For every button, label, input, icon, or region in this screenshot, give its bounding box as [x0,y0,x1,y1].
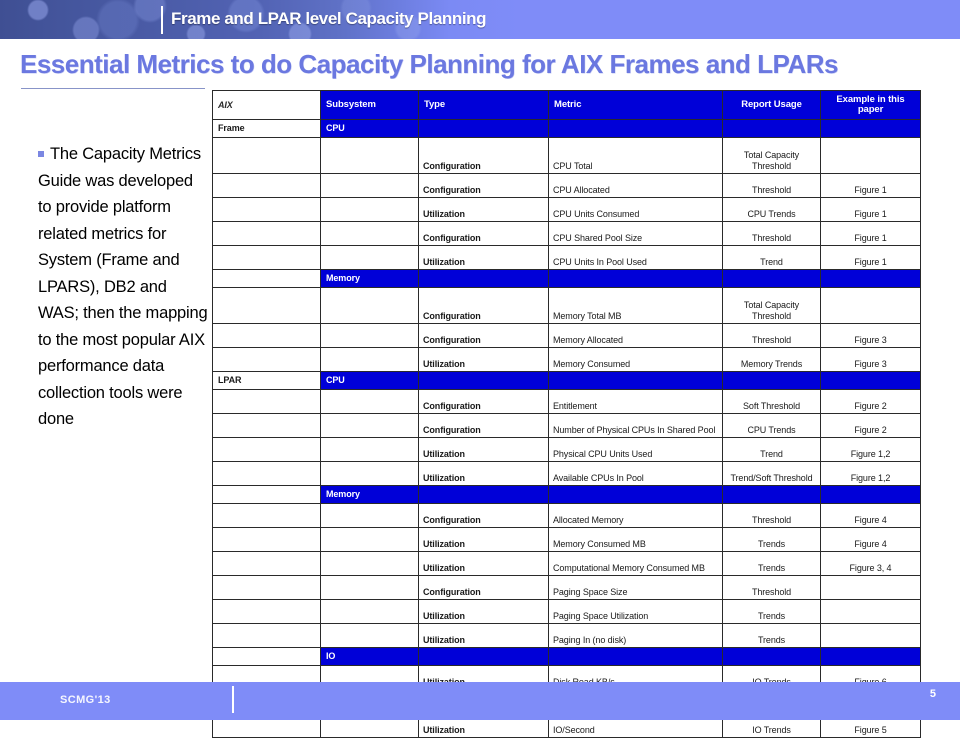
row-metric-cell: CPU Total [549,138,723,174]
row-platform-cell [213,390,321,414]
row-subsystem-cell [321,288,419,324]
metrics-table: AIXSubsystemTypeMetricReport UsageExampl… [212,90,921,738]
row-report-cell: Trend [723,246,821,270]
row-subsystem-cell [321,390,419,414]
row-subsystem-cell [321,348,419,372]
row-type-cell: Utilization [419,600,549,624]
title-underline-rule [21,88,205,89]
row-example-cell: Figure 1 [821,246,921,270]
row-example-cell [821,600,921,624]
row-report-cell: Trends [723,624,821,648]
section-filler-cell [419,270,549,288]
section-platform-cell [213,648,321,666]
row-metric-cell: CPU Shared Pool Size [549,222,723,246]
bullet-text: The Capacity Metrics Guide was developed… [38,145,207,428]
row-example-cell: Figure 3 [821,348,921,372]
banner-divider [161,6,163,34]
row-example-cell [821,576,921,600]
section-filler-cell [821,486,921,504]
row-example-cell: Figure 2 [821,390,921,414]
table-section-header-row: LPARCPU [213,372,921,390]
column-header-metric: Metric [549,91,723,120]
row-subsystem-cell [321,600,419,624]
row-subsystem-cell [321,246,419,270]
row-report-cell: Trends [723,600,821,624]
table-row: ConfigurationMemory Total MBTotal Capaci… [213,288,921,324]
section-filler-cell [419,648,549,666]
table-row: ConfigurationAllocated MemoryThresholdFi… [213,504,921,528]
row-example-cell: Figure 3 [821,324,921,348]
slide-top-banner: Frame and LPAR level Capacity Planning [0,0,960,39]
table-row: UtilizationMemory ConsumedMemory TrendsF… [213,348,921,372]
section-filler-cell [723,270,821,288]
row-metric-cell: CPU Units In Pool Used [549,246,723,270]
row-type-cell: Utilization [419,528,549,552]
row-platform-cell [213,222,321,246]
row-metric-cell: Paging In (no disk) [549,624,723,648]
row-type-cell: Configuration [419,390,549,414]
table-row: ConfigurationCPU Shared Pool SizeThresho… [213,222,921,246]
row-example-cell: Figure 1 [821,198,921,222]
section-platform-cell: Frame [213,120,321,138]
column-header-report-usage: Report Usage [723,91,821,120]
banner-title: Frame and LPAR level Capacity Planning [171,9,486,29]
row-subsystem-cell [321,576,419,600]
row-type-cell: Utilization [419,624,549,648]
section-filler-cell [549,486,723,504]
row-type-cell: Utilization [419,462,549,486]
row-platform-cell [213,504,321,528]
row-subsystem-cell [321,138,419,174]
row-report-cell: Threshold [723,174,821,198]
row-type-cell: Utilization [419,438,549,462]
footer-conference-label: SCMG'13 [60,694,111,706]
row-subsystem-cell [321,462,419,486]
row-platform-cell [213,624,321,648]
row-example-cell [821,288,921,324]
row-platform-cell [213,438,321,462]
row-report-cell: Trends [723,552,821,576]
row-report-cell: Threshold [723,576,821,600]
row-platform-cell [213,552,321,576]
row-example-cell: Figure 1 [821,222,921,246]
table-row: UtilizationCPU Units ConsumedCPU TrendsF… [213,198,921,222]
section-filler-cell [549,120,723,138]
row-example-cell: Figure 3, 4 [821,552,921,576]
row-report-cell: Total Capacity Threshold [723,138,821,174]
section-filler-cell [821,270,921,288]
row-type-cell: Utilization [419,246,549,270]
bullet-paragraph: The Capacity Metrics Guide was developed… [38,141,210,433]
row-metric-cell: Memory Consumed [549,348,723,372]
table-row: ConfigurationCPU TotalTotal Capacity Thr… [213,138,921,174]
column-header-example: Example in this paper [821,91,921,120]
table-row: UtilizationComputational Memory Consumed… [213,552,921,576]
row-type-cell: Configuration [419,288,549,324]
column-header-aix: AIX [213,91,321,120]
row-metric-cell: Available CPUs In Pool [549,462,723,486]
section-filler-cell [549,270,723,288]
section-subsystem-cell: CPU [321,120,419,138]
row-example-cell [821,138,921,174]
row-subsystem-cell [321,624,419,648]
row-platform-cell [213,600,321,624]
section-subsystem-cell: IO [321,648,419,666]
row-type-cell: Utilization [419,198,549,222]
column-header-type: Type [419,91,549,120]
bullet-square-icon [38,151,44,157]
row-example-cell: Figure 4 [821,528,921,552]
table-row: ConfigurationNumber of Physical CPUs In … [213,414,921,438]
section-platform-cell [213,270,321,288]
row-metric-cell: Memory Consumed MB [549,528,723,552]
row-report-cell: Trends [723,528,821,552]
table-row: UtilizationPaging In (no disk)Trends [213,624,921,648]
row-report-cell: Threshold [723,504,821,528]
row-example-cell: Figure 2 [821,414,921,438]
section-filler-cell [723,120,821,138]
row-type-cell: Configuration [419,138,549,174]
table-row: ConfigurationCPU AllocatedThresholdFigur… [213,174,921,198]
row-type-cell: Configuration [419,414,549,438]
slide-footer: SCMG'13 5 [0,682,960,720]
row-report-cell: Trend/Soft Threshold [723,462,821,486]
row-platform-cell [213,528,321,552]
metrics-table-container: AIXSubsystemTypeMetricReport UsageExampl… [212,90,920,738]
row-metric-cell: Memory Total MB [549,288,723,324]
table-row: UtilizationMemory Consumed MBTrendsFigur… [213,528,921,552]
section-filler-cell [419,120,549,138]
section-filler-cell [419,372,549,390]
row-platform-cell [213,138,321,174]
section-filler-cell [821,372,921,390]
table-header-row: AIXSubsystemTypeMetricReport UsageExampl… [213,91,921,120]
section-filler-cell [821,120,921,138]
table-row: UtilizationPaging Space UtilizationTrend… [213,600,921,624]
table-row: UtilizationAvailable CPUs In PoolTrend/S… [213,462,921,486]
row-report-cell: Soft Threshold [723,390,821,414]
row-platform-cell [213,246,321,270]
row-type-cell: Configuration [419,324,549,348]
row-metric-cell: CPU Units Consumed [549,198,723,222]
section-filler-cell [549,648,723,666]
row-metric-cell: Paging Space Size [549,576,723,600]
row-subsystem-cell [321,504,419,528]
row-type-cell: Utilization [419,348,549,372]
row-metric-cell: Physical CPU Units Used [549,438,723,462]
row-metric-cell: Computational Memory Consumed MB [549,552,723,576]
section-subsystem-cell: Memory [321,486,419,504]
table-row: UtilizationCPU Units In Pool UsedTrendFi… [213,246,921,270]
table-row: ConfigurationMemory AllocatedThresholdFi… [213,324,921,348]
row-report-cell: Total Capacity Threshold [723,288,821,324]
section-filler-cell [549,372,723,390]
table-row: ConfigurationPaging Space SizeThreshold [213,576,921,600]
row-report-cell: CPU Trends [723,198,821,222]
row-type-cell: Configuration [419,174,549,198]
row-metric-cell: Entitlement [549,390,723,414]
row-subsystem-cell [321,414,419,438]
section-filler-cell [723,486,821,504]
row-subsystem-cell [321,324,419,348]
section-platform-cell: LPAR [213,372,321,390]
row-subsystem-cell [321,528,419,552]
row-platform-cell [213,576,321,600]
row-metric-cell: Allocated Memory [549,504,723,528]
row-example-cell: Figure 1,2 [821,438,921,462]
page-number: 5 [930,688,936,700]
row-platform-cell [213,348,321,372]
row-example-cell: Figure 4 [821,504,921,528]
table-row: ConfigurationEntitlementSoft ThresholdFi… [213,390,921,414]
footer-divider [232,686,234,713]
row-platform-cell [213,198,321,222]
section-subsystem-cell: CPU [321,372,419,390]
section-filler-cell [821,648,921,666]
table-section-header-row: IO [213,648,921,666]
section-filler-cell [723,372,821,390]
row-example-cell: Figure 1 [821,174,921,198]
row-subsystem-cell [321,198,419,222]
section-platform-cell [213,486,321,504]
section-filler-cell [419,486,549,504]
row-report-cell: Threshold [723,222,821,246]
section-subsystem-cell: Memory [321,270,419,288]
row-type-cell: Configuration [419,504,549,528]
row-example-cell: Figure 1,2 [821,462,921,486]
row-metric-cell: Paging Space Utilization [549,600,723,624]
row-platform-cell [213,462,321,486]
row-type-cell: Configuration [419,576,549,600]
row-subsystem-cell [321,552,419,576]
row-subsystem-cell [321,438,419,462]
row-platform-cell [213,414,321,438]
row-type-cell: Utilization [419,552,549,576]
row-report-cell: Threshold [723,324,821,348]
row-report-cell: Memory Trends [723,348,821,372]
row-subsystem-cell [321,174,419,198]
row-platform-cell [213,324,321,348]
row-metric-cell: CPU Allocated [549,174,723,198]
table-section-header-row: Memory [213,270,921,288]
row-example-cell [821,624,921,648]
row-subsystem-cell [321,222,419,246]
table-section-header-row: FrameCPU [213,120,921,138]
row-report-cell: CPU Trends [723,414,821,438]
row-metric-cell: Memory Allocated [549,324,723,348]
row-report-cell: Trend [723,438,821,462]
page-title: Essential Metrics to do Capacity Plannin… [20,49,940,80]
table-row: UtilizationPhysical CPU Units UsedTrendF… [213,438,921,462]
section-filler-cell [723,648,821,666]
table-section-header-row: Memory [213,486,921,504]
row-platform-cell [213,288,321,324]
column-header-subsystem: Subsystem [321,91,419,120]
row-metric-cell: Number of Physical CPUs In Shared Pool [549,414,723,438]
row-type-cell: Configuration [419,222,549,246]
row-platform-cell [213,174,321,198]
